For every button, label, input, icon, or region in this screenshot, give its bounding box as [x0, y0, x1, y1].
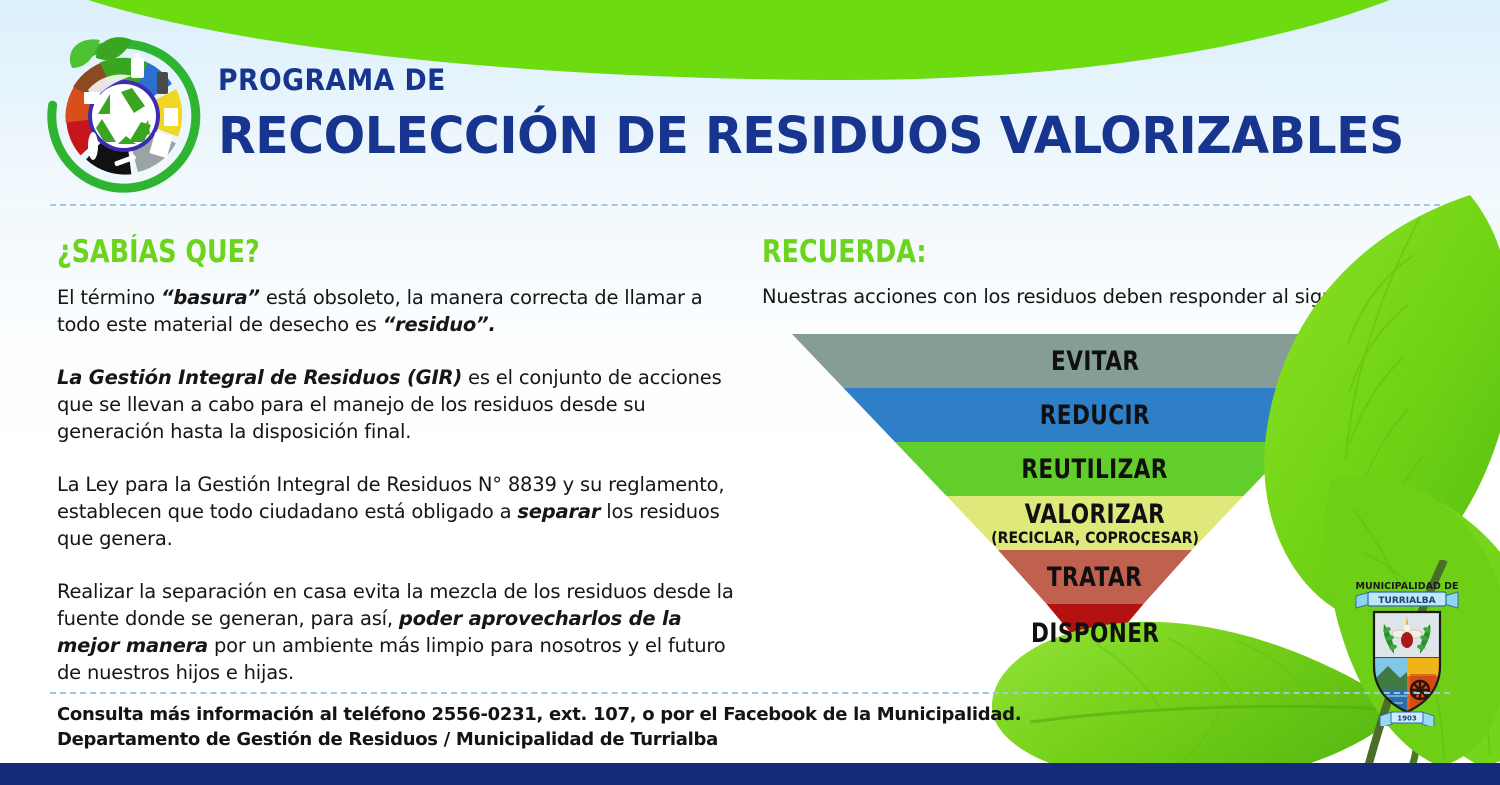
- body-area: ¿SABÍAS QUE? El término “basura” está ob…: [0, 208, 1500, 763]
- pyramid-level-sublabel: (RECICLAR, COPROCESAR): [991, 530, 1199, 546]
- text-run: La Gestión Integral de Residuos (GIR): [57, 366, 462, 389]
- waste-hierarchy-pyramid: EVITARREDUCIRREUTILIZARVALORIZAR(RECICLA…: [792, 334, 1398, 662]
- coat-top-text: MUNICIPALIDAD DE: [1356, 581, 1459, 592]
- pyramid-level-label: EVITAR: [1051, 348, 1139, 375]
- turrialba-coat-of-arms-icon: MUNICIPALIDAD DE TURRIALBA: [1348, 578, 1466, 726]
- footer-contact: Consulta más información al teléfono 255…: [57, 702, 1057, 752]
- page-title: PROGRAMA DE RECOLECCIÓN DE RESIDUOS VALO…: [218, 63, 1453, 166]
- paragraph-gir: La Gestión Integral de Residuos (GIR) es…: [57, 364, 737, 445]
- paragraph-ley: La Ley para la Gestión Integral de Resid…: [57, 471, 737, 552]
- text-run: separar: [517, 500, 600, 523]
- pyramid-level-label: REDUCIR: [1040, 402, 1150, 429]
- pyramid-lead-text: Nuestras acciones con los residuos deben…: [762, 283, 1482, 310]
- paragraph-sabias-1: El término “basura” está obsoleto, la ma…: [57, 284, 737, 338]
- divider-top: [50, 204, 1450, 206]
- title-kicker: PROGRAMA DE: [218, 63, 1355, 97]
- recycling-wheel-icon: [36, 30, 214, 198]
- coat-banner-text: TURRIALBA: [1378, 596, 1435, 606]
- pyramid-level-label: REUTILIZAR: [1022, 456, 1169, 483]
- pyramid-level-valorizar: VALORIZAR(RECICLAR, COPROCESAR): [792, 496, 1398, 550]
- paragraph-separacion: Realizar la separación en casa evita la …: [57, 578, 737, 686]
- pyramid-level-reutilizar: REUTILIZAR: [792, 442, 1398, 496]
- pyramid-level-disponer: DISPONER: [792, 604, 1398, 662]
- pyramid-level-label: DISPONER: [1031, 620, 1159, 647]
- left-column-heading: ¿SABÍAS QUE?: [57, 234, 615, 270]
- pyramid-level-tratar: TRATAR: [792, 550, 1398, 604]
- text-run: “basura”: [161, 286, 260, 309]
- left-column: ¿SABÍAS QUE? El término “basura” está ob…: [57, 234, 737, 686]
- text-run: El término: [57, 286, 161, 309]
- pyramid-level-evitar: EVITAR: [792, 334, 1398, 388]
- pyramid-level-label: TRATAR: [1047, 564, 1142, 591]
- footer-line-2: Departamento de Gestión de Residuos / Mu…: [57, 727, 1057, 752]
- pyramid-level-reducir: REDUCIR: [792, 388, 1398, 442]
- bottom-bar: [0, 763, 1500, 785]
- text-run: “residuo”.: [383, 313, 496, 336]
- divider-bottom: [50, 692, 1450, 694]
- right-column-heading: RECUERDA:: [762, 234, 1352, 270]
- title-main: RECOLECCIÓN DE RESIDUOS VALORIZABLES: [218, 107, 1404, 166]
- right-column: RECUERDA: Nuestras acciones con los resi…: [762, 234, 1482, 310]
- coat-year-text: 1903: [1397, 715, 1417, 723]
- pyramid-level-label: VALORIZAR: [1025, 501, 1166, 528]
- infographic-poster: PROGRAMA DE RECOLECCIÓN DE RESIDUOS VALO…: [0, 0, 1500, 785]
- footer-line-1: Consulta más información al teléfono 255…: [57, 702, 1057, 727]
